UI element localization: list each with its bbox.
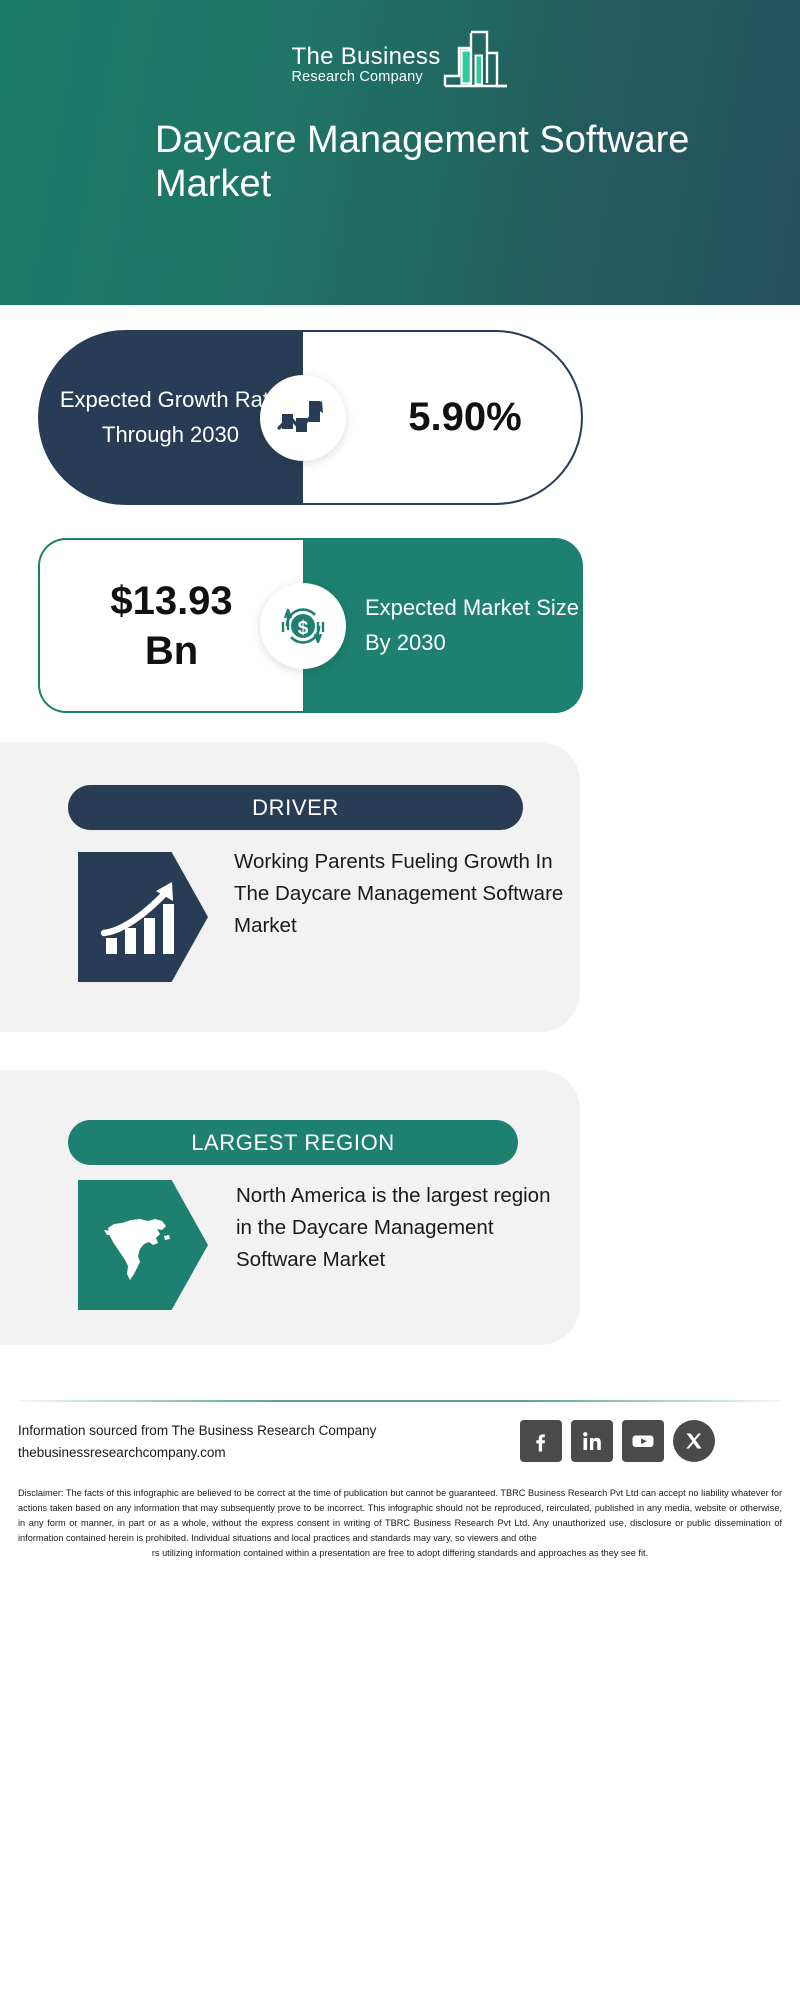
header-banner: The Business Research Company Daycare Ma…: [0, 0, 800, 305]
largest-region-description: North America is the largest region in t…: [236, 1180, 566, 1275]
disclaimer-last-line: rs utilizing information contained withi…: [18, 1546, 782, 1561]
footer-source: Information sourced from The Business Re…: [18, 1420, 448, 1465]
growth-chart-arrow-icon: [260, 375, 346, 461]
footer-source-url[interactable]: thebusinessresearchcompany.com: [18, 1442, 448, 1464]
company-logo: The Business Research Company: [270, 22, 530, 92]
driver-pill: DRIVER: [68, 785, 523, 830]
stat-card-growth-rate-value: 5.90%: [362, 395, 521, 440]
logo-line-1: The Business: [291, 44, 440, 69]
largest-region-pill-label: LARGEST REGION: [191, 1130, 395, 1156]
largest-region-pill: LARGEST REGION: [68, 1120, 518, 1165]
driver-description: Working Parents Fueling Growth In The Da…: [234, 846, 564, 941]
disclaimer-text: Disclaimer: The facts of this infographi…: [18, 1486, 782, 1561]
bar-chart-logo-icon: [443, 28, 509, 90]
footer-divider: [18, 1400, 782, 1402]
svg-text:$: $: [298, 618, 309, 639]
stat-card-market-size: $13.93 Bn Expected Market Size By 2030 $: [38, 538, 583, 713]
driver-pill-label: DRIVER: [252, 795, 339, 821]
social-links: [520, 1420, 715, 1462]
stat-card-market-size-label: Expected Market Size By 2030: [365, 591, 583, 659]
logo-line-2: Research Company: [291, 69, 422, 86]
footer-source-line-1: Information sourced from The Business Re…: [18, 1420, 448, 1442]
stat-card-market-size-unit: Bn: [145, 626, 198, 676]
youtube-icon[interactable]: [622, 1420, 664, 1462]
disclaimer-body: Disclaimer: The facts of this infographi…: [18, 1488, 782, 1543]
stat-card-growth-rate: Expected Growth Rate Through 2030 5.90%: [38, 330, 583, 505]
linkedin-icon[interactable]: [571, 1420, 613, 1462]
facebook-icon[interactable]: [520, 1420, 562, 1462]
logo-text: The Business Research Company: [291, 44, 440, 92]
page-title: Daycare Management Software Market: [50, 118, 750, 207]
stat-card-market-size-value: $13.93: [110, 576, 232, 626]
x-twitter-icon[interactable]: [673, 1420, 715, 1462]
dollar-circulation-icon: $: [260, 583, 346, 669]
